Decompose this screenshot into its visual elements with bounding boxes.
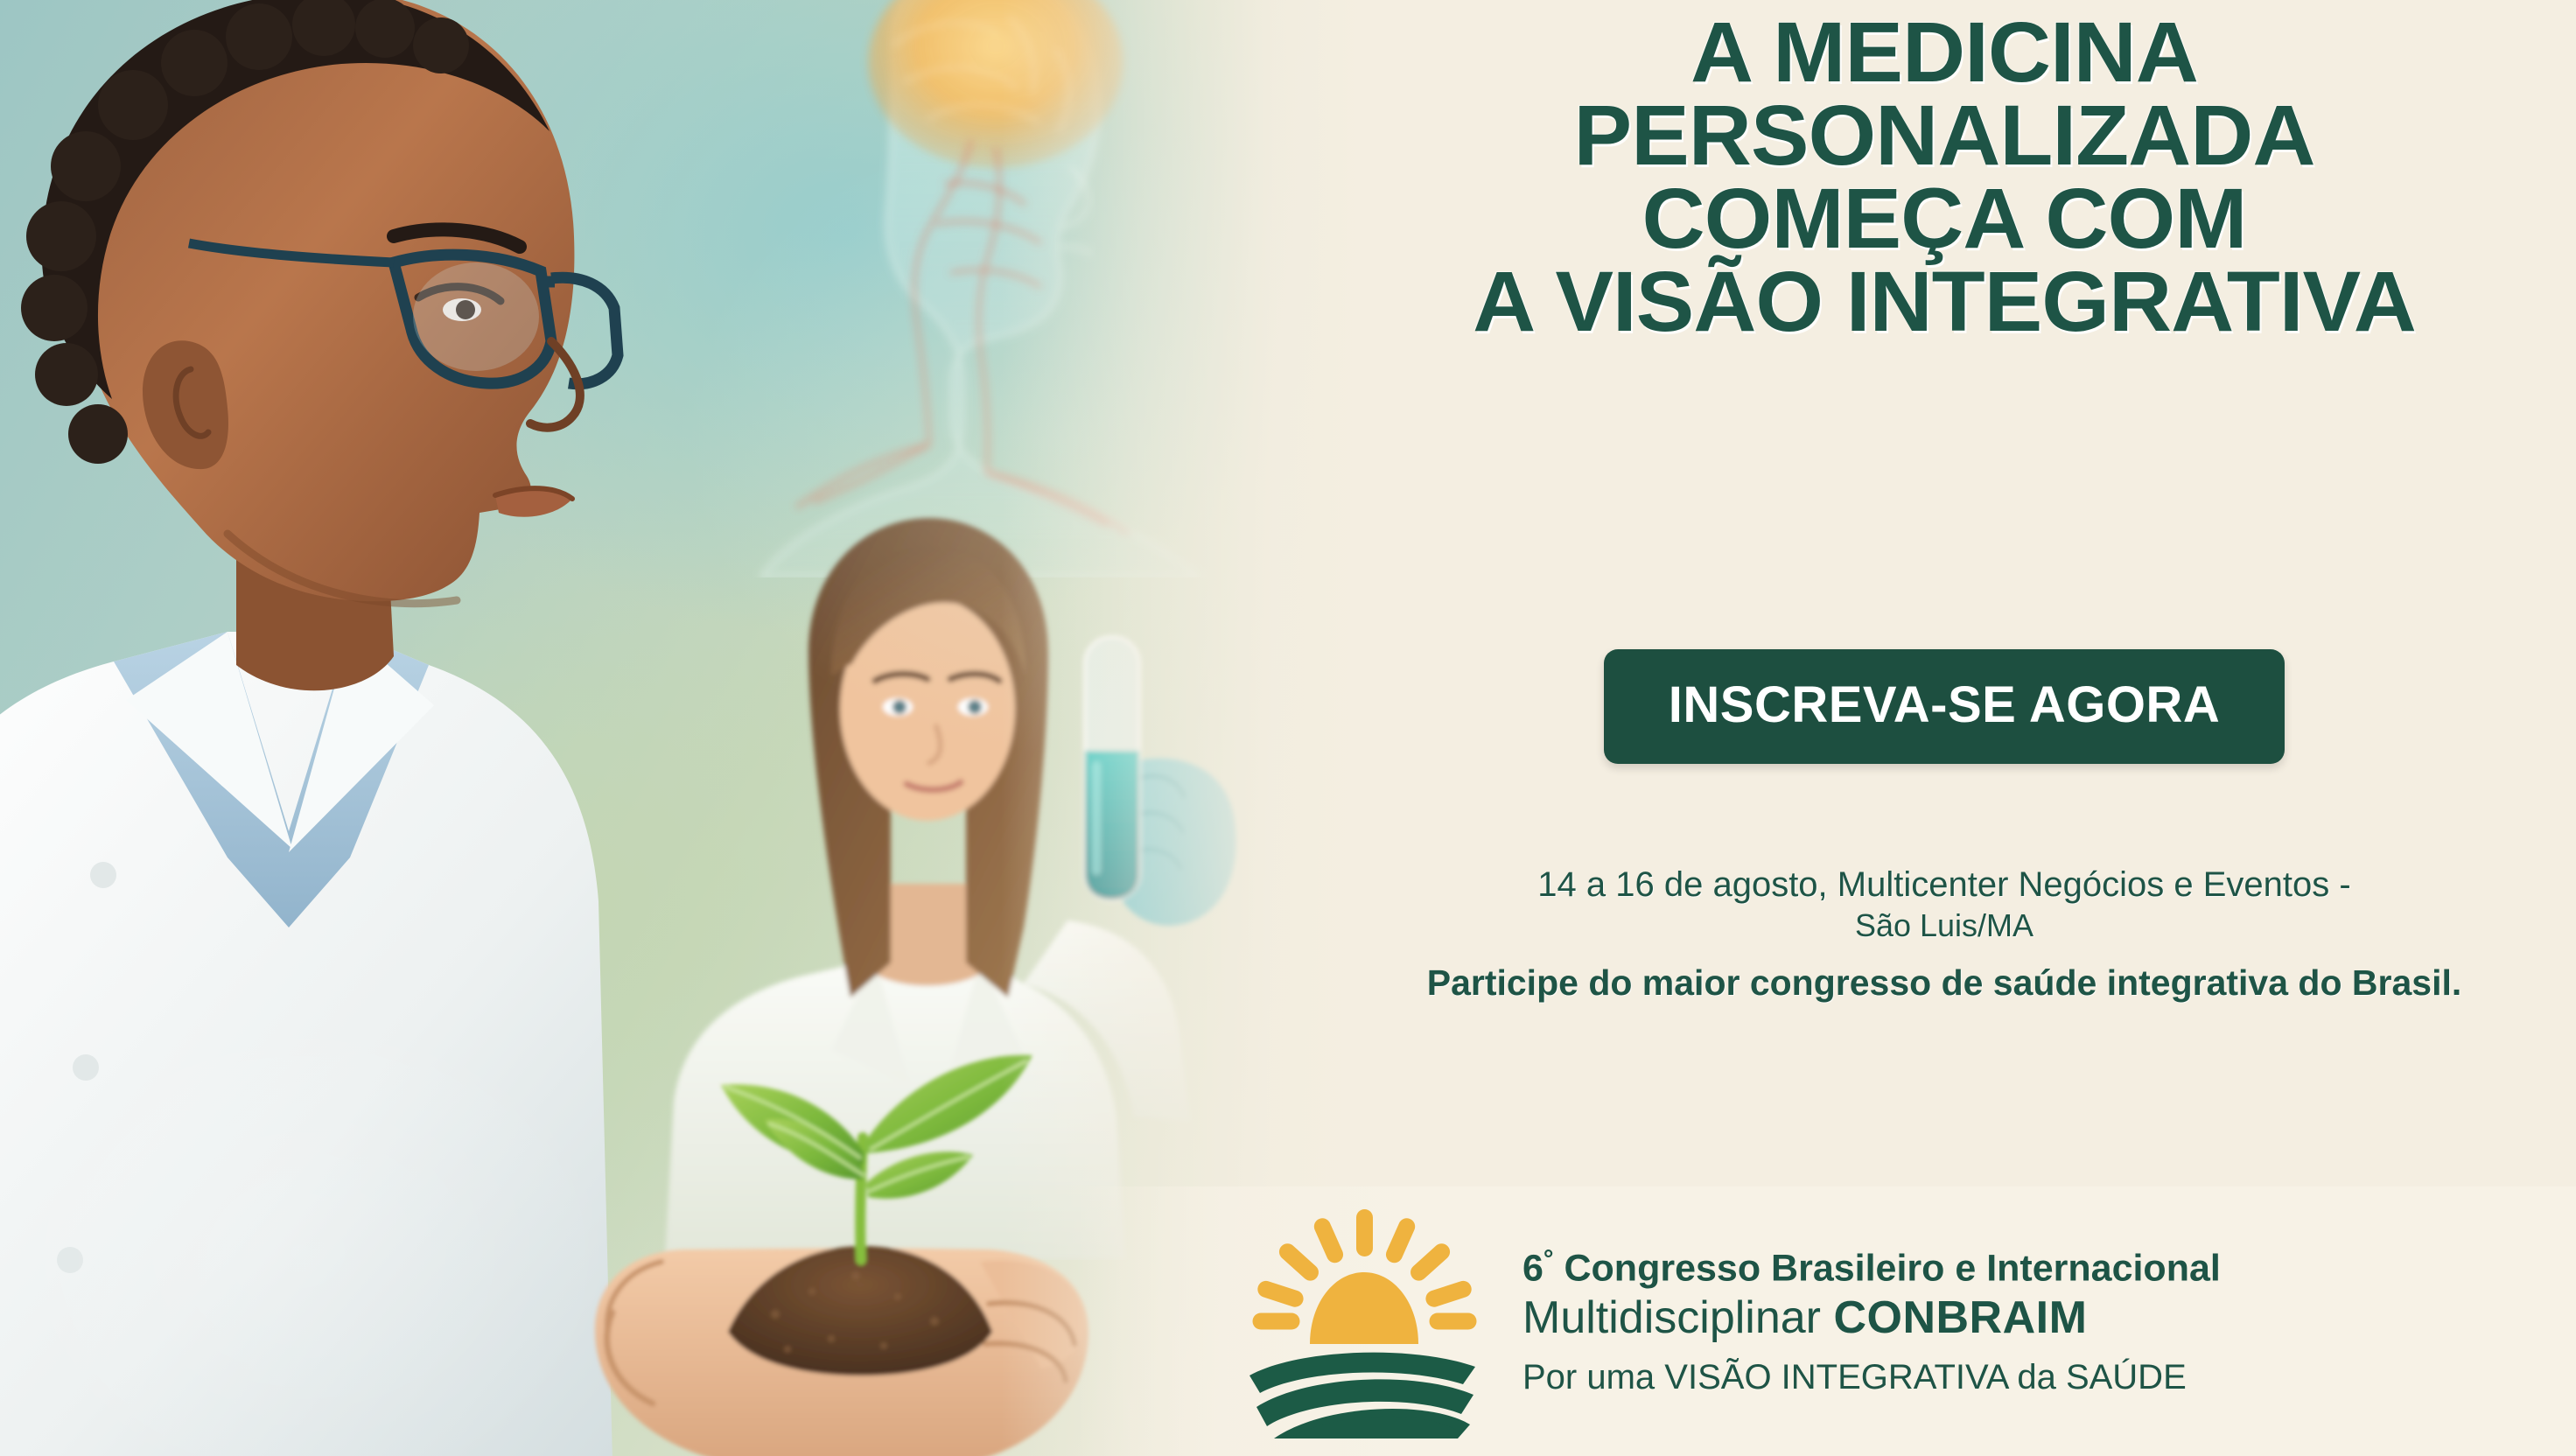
sunrise-over-fields-logo-icon: [1244, 1204, 1480, 1438]
congress-title-line2: Multidisciplinar CONBRAIM: [1522, 1291, 2221, 1345]
event-city: São Luis/MA: [1312, 906, 2576, 947]
conbraim-brand: CONBRAIM: [1833, 1292, 2087, 1343]
headline-line-3: COMEÇA COM: [1293, 177, 2576, 260]
multidisciplinar-label: Multidisciplinar: [1522, 1292, 1821, 1343]
headline-line-4: A VISÃO INTEGRATIVA: [1293, 260, 2576, 343]
event-details: 14 a 16 de agosto, Multicenter Negócios …: [1312, 864, 2576, 1004]
register-now-button[interactable]: INSCREVA-SE AGORA: [1604, 649, 2285, 764]
promotional-banner: A MEDICINA PERSONALIZADA COMEÇA COM A VI…: [0, 0, 2576, 1456]
event-dates-venue: 14 a 16 de agosto, Multicenter Negócios …: [1312, 864, 2576, 906]
edition-number: 6: [1522, 1247, 1543, 1289]
degree-mark: °: [1543, 1245, 1554, 1273]
congress-title-line1: Congresso Brasileiro e Internacional: [1564, 1247, 2220, 1289]
congress-edition-line: 6° Congresso Brasileiro e Internacional: [1522, 1244, 2221, 1291]
headline-line-1: A MEDICINA: [1293, 10, 2576, 94]
headline-line-2: PERSONALIZADA: [1293, 94, 2576, 177]
logo-text-block: 6° Congresso Brasileiro e Internacional …: [1522, 1244, 2221, 1399]
logo-bar: 6° Congresso Brasileiro e Internacional …: [1076, 1186, 2576, 1456]
headline: A MEDICINA PERSONALIZADA COMEÇA COM A VI…: [1293, 10, 2576, 343]
event-pitch: Participe do maior congresso de saúde in…: [1349, 961, 2539, 1004]
congress-tagline: Por uma VISÃO INTEGRATIVA da SAÚDE: [1522, 1356, 2221, 1399]
cta-container: INSCREVA-SE AGORA: [1312, 649, 2576, 764]
